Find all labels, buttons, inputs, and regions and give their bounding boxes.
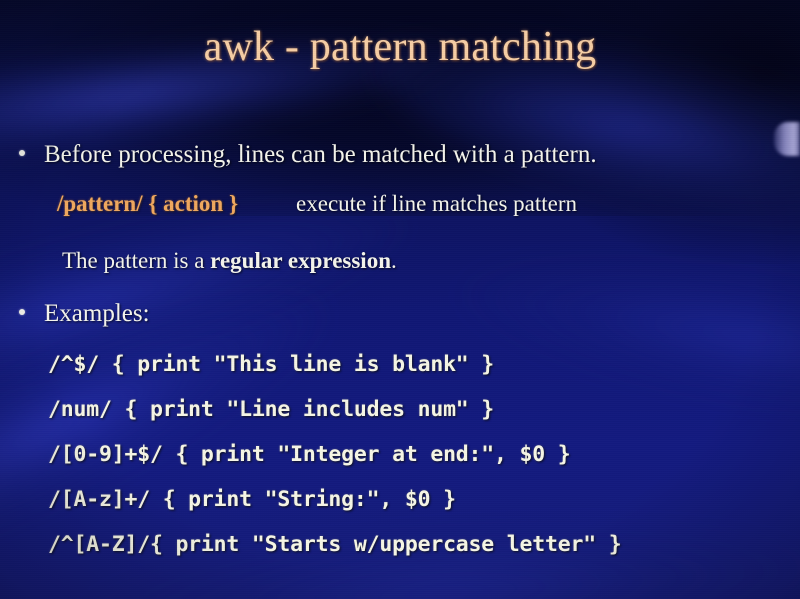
syntax-line: /pattern/ { action }execute if line matc… [57,191,577,217]
code-line: /num/ { print "Line includes num" } [48,397,621,442]
presentation-slide: awk - pattern matching Before processing… [0,0,800,599]
code-line: /[0-9]+$/ { print "Integer at end:", $0 … [48,442,621,487]
bullet-item-intro-label: Before processing, lines can be matched … [44,140,597,170]
syntax-pattern-action-code: /pattern/ { action } [57,191,238,216]
bullet-dot-icon [19,150,25,156]
bullet-item-intro: Before processing, lines can be matched … [19,140,597,170]
regex-note-emphasis: regular expression [210,248,391,273]
regex-note-suffix: . [391,248,397,273]
code-line: /^$/ { print "This line is blank" } [48,352,621,397]
bullet-item-examples: Examples: [19,299,150,329]
slide-content: awk - pattern matching Before processing… [0,0,800,599]
code-examples-block: /^$/ { print "This line is blank" } /num… [48,352,621,577]
code-line: /^[A-Z]/{ print "Starts w/uppercase lett… [48,532,621,577]
slide-title: awk - pattern matching [0,24,800,70]
regex-note-line: The pattern is a regular expression. [62,248,397,274]
bullet-item-examples-label: Examples: [44,299,150,329]
regex-note-prefix: The pattern is a [62,248,210,273]
code-line: /[A-z]+/ { print "String:", $0 } [48,487,621,532]
bullet-dot-icon [19,309,25,315]
syntax-description-label: execute if line matches pattern [296,191,577,216]
